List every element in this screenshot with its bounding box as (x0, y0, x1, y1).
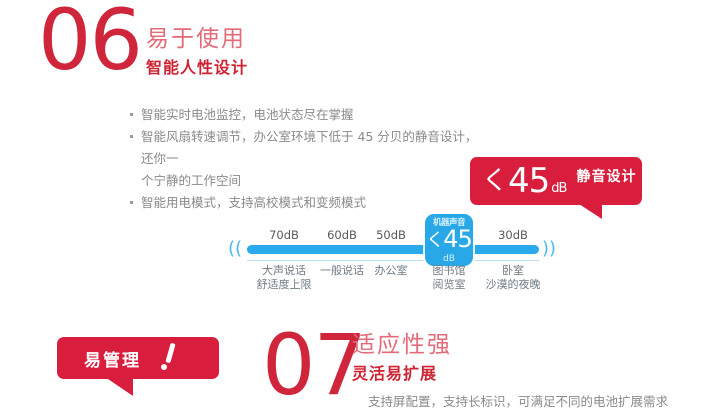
section-06-title: 易于使用 (146, 26, 246, 52)
easy-manage-label: 易管理 (84, 346, 141, 371)
machine-noise-marker: 机器声音 く45 dB (425, 214, 473, 266)
less-than-icon: く (426, 230, 443, 252)
exclamation-stroke (165, 343, 175, 364)
scale-caption: 办公室 (375, 264, 408, 278)
easy-manage-callout: 易管理 (57, 337, 219, 379)
bullet-text: 智能用电模式，支持高校模式和变频模式 (141, 192, 478, 214)
marker-value: 45 (443, 228, 472, 250)
marker-value-group: く45 (425, 228, 473, 253)
scale-tick-label: 50dB (376, 228, 406, 242)
noise-scale: (( )) 70dB 大声说话 舒适度上限 60dB 一般说话 50dB 办公室… (228, 222, 558, 292)
quiet-design-callout: く45dB 静音设计 (470, 157, 642, 205)
section-06-subtitle: 智能人性设计 (146, 58, 248, 77)
scale-bar (247, 245, 539, 254)
scale-caption-line1: 卧室 (502, 264, 524, 277)
scale-caption-line1: 一般说话 (320, 264, 364, 277)
quiet-value: 45 (508, 164, 549, 198)
quiet-unit: dB (551, 182, 566, 195)
scale-caption: 大声说话 舒适度上限 (257, 264, 312, 292)
list-item: 智能风扇转速调节，办公室环境下低于 45 分贝的静音设计，还你一 (128, 126, 478, 170)
scale-tick-label: 70dB (269, 228, 299, 242)
section-07-subtitle: 灵活易扩展 (352, 364, 437, 383)
scale-caption-line2: 沙漠的夜晚 (486, 278, 541, 292)
section-06-number: 06 (38, 0, 141, 82)
section-07-number: 07 (262, 323, 365, 407)
scale-caption-line1: 大声说话 (262, 264, 306, 277)
scale-tick-label: 60dB (327, 228, 357, 242)
scale-underline (247, 260, 539, 261)
list-item-continuation: 个宁静的工作空间 (128, 170, 478, 192)
bullet-text: 智能实时电池监控，电池状态尽在掌握 (141, 104, 478, 126)
section-06-bullet-list: 智能实时电池监控，电池状态尽在掌握 智能风扇转速调节，办公室环境下低于 45 分… (128, 104, 478, 214)
section-07-title: 适应性强 (352, 332, 452, 358)
scale-caption: 图书馆 阅览室 (433, 264, 466, 292)
bullet-dot-icon (130, 135, 133, 138)
bubble-tail-icon (99, 377, 133, 396)
list-item: 智能用电模式，支持高校模式和变频模式 (128, 192, 478, 214)
scale-caption: 一般说话 (320, 264, 364, 278)
scale-caption-line1: 图书馆 (433, 264, 466, 277)
quiet-label: 静音设计 (576, 166, 636, 186)
sound-wave-right-icon: )) (542, 240, 556, 258)
scale-caption-line2: 舒适度上限 (257, 278, 312, 292)
marker-unit: dB (425, 254, 473, 264)
exclamation-icon (159, 343, 181, 373)
bullet-text: 智能风扇转速调节，办公室环境下低于 45 分贝的静音设计，还你一 (141, 126, 478, 170)
less-than-icon: く (482, 168, 507, 194)
quiet-value-group: く45dB (482, 164, 566, 198)
section-07-body: 支持屏配置，支持长标识，可满足不同的电池扩展需求 (368, 391, 718, 413)
bullet-dot-icon (130, 113, 133, 116)
scale-caption: 卧室 沙漠的夜晚 (486, 264, 541, 292)
scale-caption-line1: 办公室 (375, 264, 408, 277)
list-item: 智能实时电池监控，电池状态尽在掌握 (128, 104, 478, 126)
promo-page: 06 易于使用 智能人性设计 智能实时电池监控，电池状态尽在掌握 智能风扇转速调… (0, 0, 720, 402)
bullet-dot-icon (130, 201, 133, 204)
scale-tick-label: 30dB (498, 228, 528, 242)
bubble-tail-icon (566, 202, 602, 219)
scale-caption-line2: 阅览室 (433, 278, 466, 292)
bullet-text: 个宁静的工作空间 (141, 170, 478, 192)
sound-wave-left-icon: (( (228, 240, 242, 258)
exclamation-dot (161, 364, 167, 370)
